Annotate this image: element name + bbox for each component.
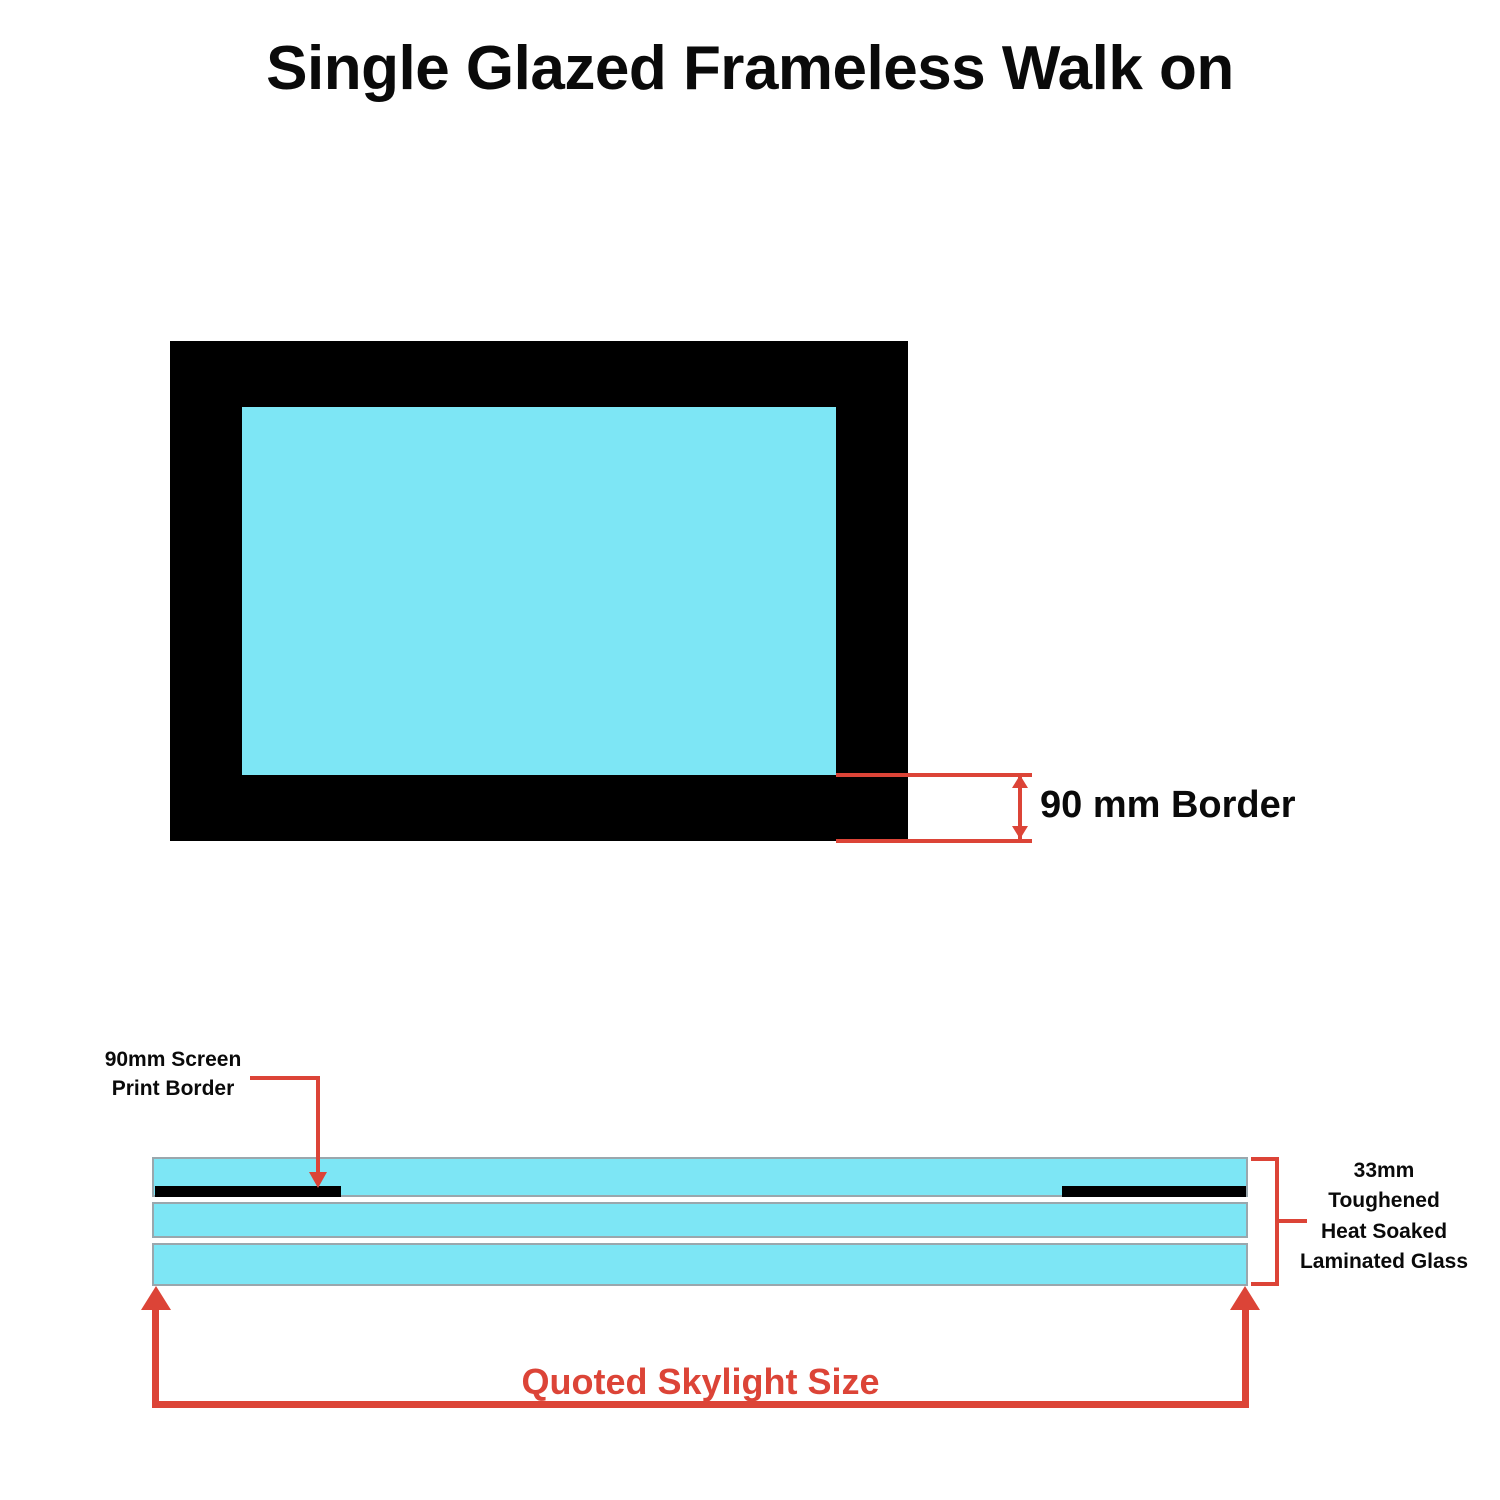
extension-line-top [836, 773, 1032, 777]
arrowhead-down-icon [1012, 826, 1028, 839]
width-arrowhead-left-icon [141, 1286, 171, 1310]
glass-spec-line1: 33mm [1286, 1156, 1482, 1186]
extension-line-bottom [836, 839, 1032, 843]
plan-view-clear-glass-area [242, 407, 836, 775]
screen-print-border-label-line1: 90mm Screen [78, 1046, 268, 1075]
diagram-canvas: Single Glazed Frameless Walk on 90 mm Bo… [0, 0, 1500, 1500]
arrowhead-up-icon [1012, 775, 1028, 788]
glass-spec-line2: Toughened [1286, 1186, 1482, 1216]
border-dimension-label: 90 mm Border [1040, 784, 1296, 827]
screen-print-border-label-line2: Print Border [78, 1075, 268, 1104]
callout-leader-vertical [316, 1076, 320, 1173]
callout-arrowhead-down-icon [309, 1172, 327, 1188]
screen-print-border-label: 90mm Screen Print Border [78, 1046, 268, 1104]
glass-pane-middle [152, 1202, 1248, 1238]
glass-spec-line4: Laminated Glass [1286, 1247, 1482, 1277]
overall-width-label: Quoted Skylight Size [152, 1361, 1249, 1403]
glass-specification-label: 33mm Toughened Heat Soaked Laminated Gla… [1286, 1156, 1482, 1278]
glass-pane-bottom [152, 1243, 1248, 1286]
glass-spec-line3: Heat Soaked [1286, 1217, 1482, 1247]
width-arrowhead-right-icon [1230, 1286, 1260, 1310]
print-band-right [1062, 1186, 1246, 1197]
page-title: Single Glazed Frameless Walk on [0, 34, 1500, 103]
